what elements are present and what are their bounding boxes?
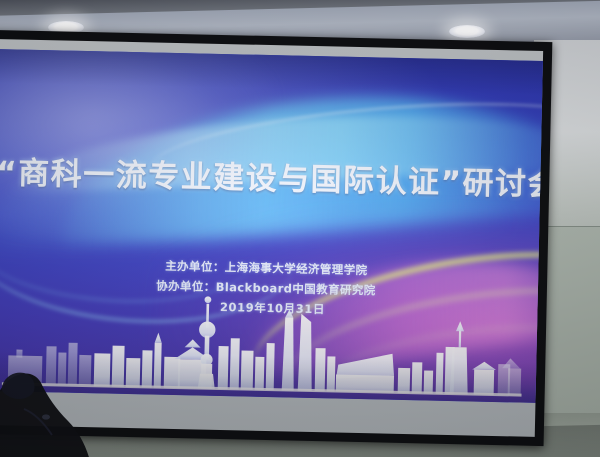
slide-title: “商科一流专业建设与国际认证”研讨会 — [0, 147, 541, 204]
slide-subtitle-block: 主办单位：上海海事大学经济管理学院 协办单位：Blackboard中国教育研究院… — [0, 252, 538, 325]
downlight-right-icon — [449, 25, 485, 38]
projection-screen-surface: “商科一流专业建设与国际认证”研讨会 主办单位：上海海事大学经济管理学院 协办单… — [0, 49, 543, 403]
slide-text-layer: “商科一流专业建设与国际认证”研讨会 主办单位：上海海事大学经济管理学院 协办单… — [0, 49, 543, 403]
audience-member-silhouette — [0, 369, 90, 457]
photograph-of-conference-room: “商科一流专业建设与国际认证”研讨会 主办单位：上海海事大学经济管理学院 协办单… — [0, 0, 600, 457]
